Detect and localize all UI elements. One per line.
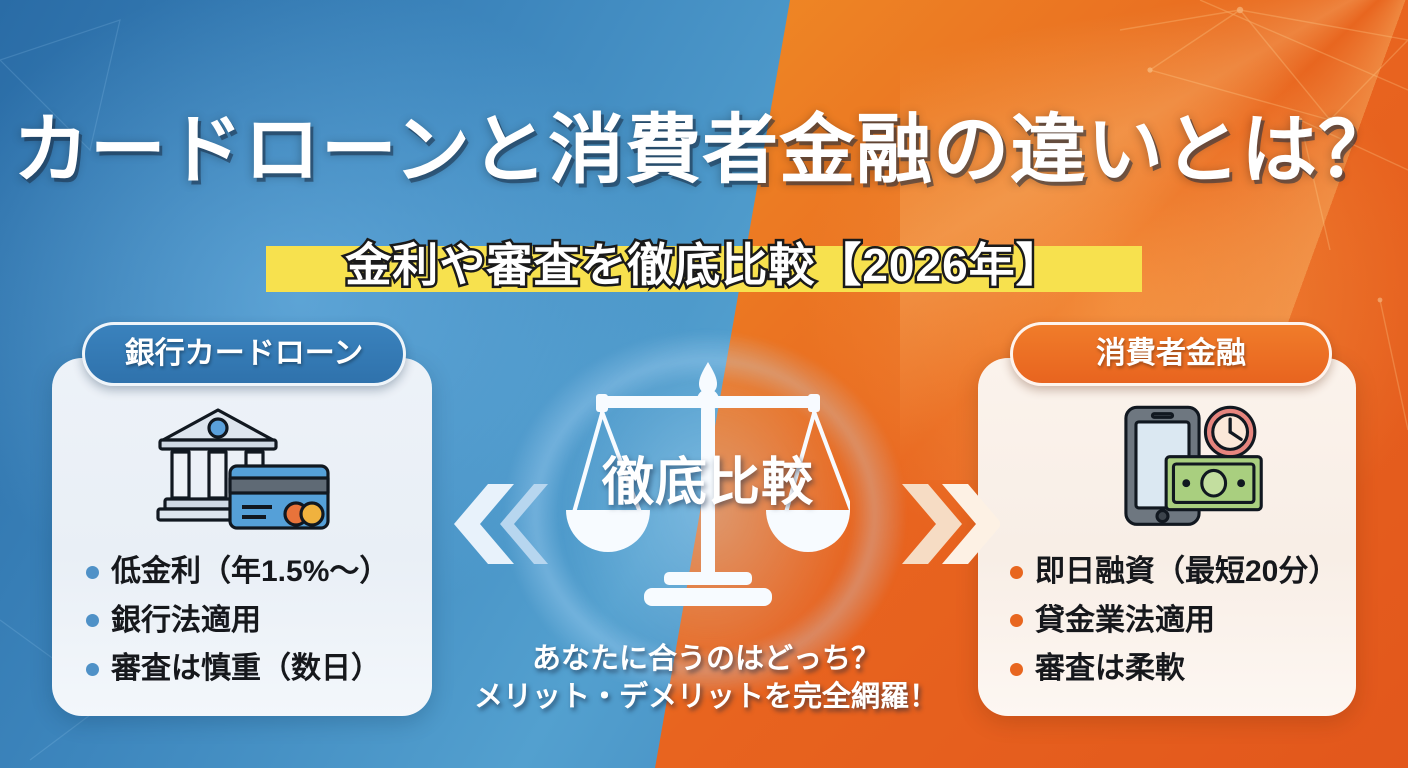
caption-line-1: あなたに合うのはどっち？ [404, 640, 1008, 678]
bullet-dot-icon [1010, 566, 1023, 579]
bullet-dot-icon [86, 663, 99, 676]
bullet-dot-icon [1010, 663, 1023, 676]
list-item: 即日融資（最短20分） [1010, 552, 1338, 593]
right-bullet-text: 即日融資（最短20分） [1035, 552, 1338, 593]
right-card-bullet-list: 即日融資（最短20分） 貸金業法適用 審査は柔軟 [1010, 552, 1338, 698]
subtitle-container: 金利や審査を徹底比較【2026年】 [266, 236, 1142, 294]
list-item: 貸金業法適用 [1010, 601, 1338, 642]
smartphone-clock-cash-icon [1094, 400, 1284, 528]
bank-credit-card-icon [146, 404, 336, 532]
list-item: 銀行法適用 [86, 601, 389, 642]
page-subtitle: 金利や審査を徹底比較【2026年】 [266, 236, 1142, 294]
left-bullet-text: 審査は慎重（数日） [111, 649, 381, 690]
scale-label: 徹底比較 [566, 440, 850, 515]
list-item: 低金利（年1.5%〜） [86, 552, 389, 593]
bottom-caption: あなたに合うのはどっち？ メリット・デメリットを完全網羅！ [404, 640, 1008, 717]
caption-line-2: メリット・デメリットを完全網羅！ [404, 678, 1008, 716]
list-item: 審査は慎重（数日） [86, 649, 389, 690]
left-card-bullet-list: 低金利（年1.5%〜） 銀行法適用 審査は慎重（数日） [86, 552, 389, 698]
left-bullet-text: 低金利（年1.5%〜） [111, 552, 389, 593]
list-item: 審査は柔軟 [1010, 649, 1338, 690]
double-chevron-left-icon [436, 482, 552, 566]
bullet-dot-icon [1010, 614, 1023, 627]
page-title: カードローンと消費者金融の違いとは？ [0, 112, 1408, 190]
double-chevron-right-icon [884, 482, 1000, 566]
left-card-badge: 銀行カードローン [82, 322, 406, 386]
infographic-canvas: カードローンと消費者金融の違いとは？ 金利や審査を徹底比較【2026年】 銀行カ… [0, 0, 1408, 768]
right-bullet-text: 審査は柔軟 [1035, 649, 1185, 690]
left-bullet-text: 銀行法適用 [111, 601, 261, 642]
bullet-dot-icon [86, 614, 99, 627]
right-card-badge: 消費者金融 [1010, 322, 1332, 386]
bullet-dot-icon [86, 566, 99, 579]
right-bullet-text: 貸金業法適用 [1035, 601, 1215, 642]
